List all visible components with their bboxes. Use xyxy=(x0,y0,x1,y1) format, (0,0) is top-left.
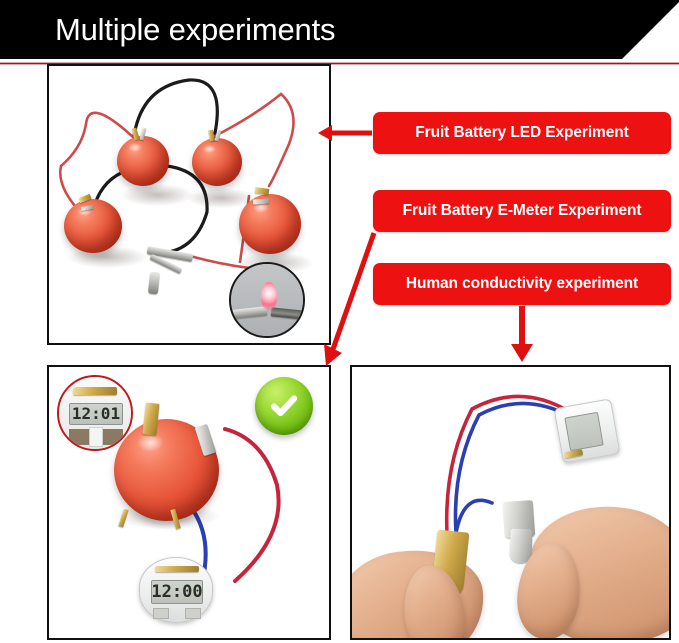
fruit-battery-led-scene xyxy=(49,66,329,343)
green-check-badge xyxy=(255,377,313,435)
callout-human-conductivity[interactable]: Human conductivity experiment xyxy=(373,263,671,305)
clock-time-readout: 12:01 xyxy=(72,406,120,422)
led-closeup-inset xyxy=(229,262,305,338)
arrow-to-emeter-panel xyxy=(324,233,374,366)
clock-lcd-screen: 12:00 xyxy=(151,580,203,604)
callout-fruit-battery-led[interactable]: Fruit Battery LED Experiment xyxy=(373,112,671,154)
clock-terminal-strip xyxy=(155,566,199,572)
callout-label-text: Fruit Battery E-Meter Experiment xyxy=(403,202,642,220)
meter-lcd-screen xyxy=(564,412,603,451)
check-icon xyxy=(267,389,301,423)
fruit-2 xyxy=(192,138,242,186)
fruit-4 xyxy=(239,194,301,254)
panel-human-conductivity xyxy=(350,365,671,640)
fruit-battery-emeter-scene: 12:00 12:01 xyxy=(49,367,329,638)
page-title: Multiple experiments xyxy=(55,12,335,48)
panel-fruit-battery-emeter: 12:00 12:01 xyxy=(47,365,331,640)
fruit-1 xyxy=(117,136,169,186)
clock-terminal-strip xyxy=(73,387,117,395)
arrow-to-human-panel xyxy=(511,306,533,362)
lcd-meter-module xyxy=(554,398,621,463)
clock-lcd-screen: 12:01 xyxy=(69,403,123,425)
human-conductivity-scene xyxy=(352,367,669,638)
callout-label-text: Fruit Battery LED Experiment xyxy=(415,124,628,142)
meter-terminal-strip xyxy=(564,449,583,458)
callout-label-text: Human conductivity experiment xyxy=(406,275,638,293)
clock-closeup-inset: 12:01 xyxy=(57,375,133,451)
infographic-root: Multiple experiments xyxy=(0,0,679,643)
lcd-clock-module: 12:00 xyxy=(139,557,213,623)
clock-button-left xyxy=(153,608,169,619)
panel-fruit-battery-led xyxy=(47,64,331,345)
lit-led-glow xyxy=(261,282,277,310)
clock-time-readout: 12:00 xyxy=(151,584,202,601)
clock-button-center xyxy=(89,427,103,447)
clock-button-right xyxy=(185,608,201,619)
fruit-shadow xyxy=(121,184,193,206)
callout-fruit-battery-emeter[interactable]: Fruit Battery E-Meter Experiment xyxy=(373,190,671,232)
